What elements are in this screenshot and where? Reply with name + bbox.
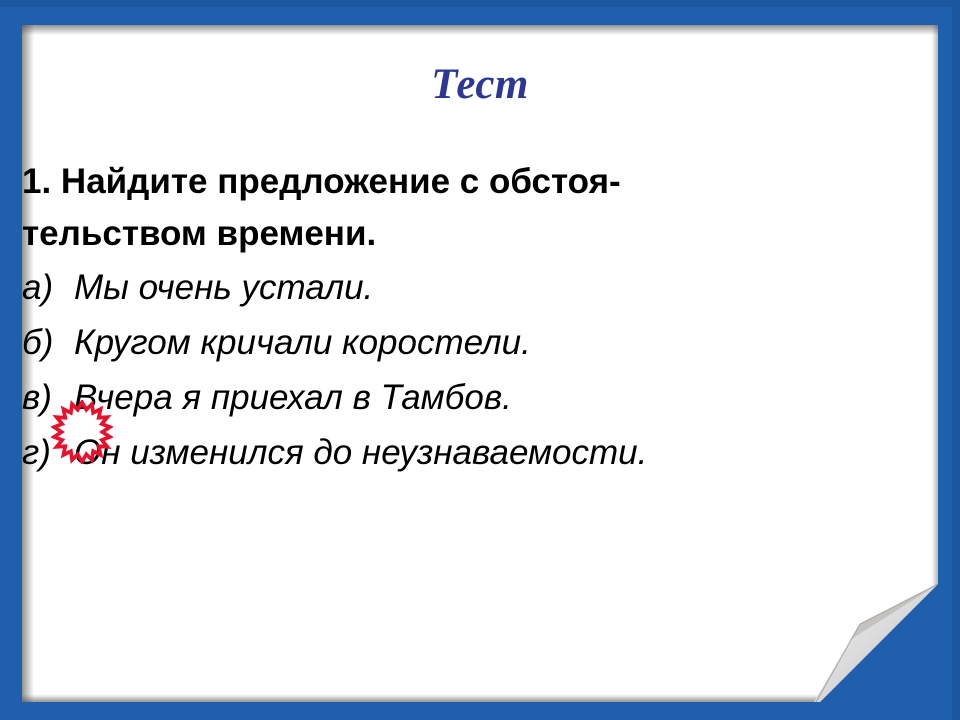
question-line-1: 1. Найдите предложение с обстоя- xyxy=(6,156,960,208)
option-v-marker: в) xyxy=(22,370,74,425)
question-line-2: тельством времени. xyxy=(6,208,960,260)
slide-canvas: Тест 1. Найдите предложение с обстоя- те… xyxy=(0,0,960,720)
slide-top-edge xyxy=(0,0,960,7)
option-v[interactable]: в)Вчера я приехал в Тамбов. xyxy=(6,370,960,425)
option-a[interactable]: а)Мы очень устали. xyxy=(6,260,960,315)
option-a-marker: а) xyxy=(22,260,74,315)
option-b-text: Кругом кричали коростели. xyxy=(74,315,531,370)
paper-inner-shadow-top xyxy=(22,25,938,35)
test-question-block: 1. Найдите предложение с обстоя- тельств… xyxy=(6,156,960,480)
option-a-text: Мы очень устали. xyxy=(74,260,373,315)
option-g-text: Он изменился до неузнаваемости. xyxy=(74,425,647,480)
slide-paper: Тест 1. Найдите предложение с обстоя- те… xyxy=(22,25,938,702)
page-curl-decoration xyxy=(814,584,938,702)
option-b-marker: б) xyxy=(22,315,74,370)
option-g[interactable]: г)Он изменился до неузнаваемости. xyxy=(6,425,960,480)
slide-title: Тест xyxy=(22,63,938,106)
option-g-marker: г) xyxy=(22,425,74,480)
paper-inner-shadow-bottom xyxy=(22,694,938,702)
option-v-text: Вчера я приехал в Тамбов. xyxy=(74,370,512,425)
option-b[interactable]: б)Кругом кричали коростели. xyxy=(6,315,960,370)
